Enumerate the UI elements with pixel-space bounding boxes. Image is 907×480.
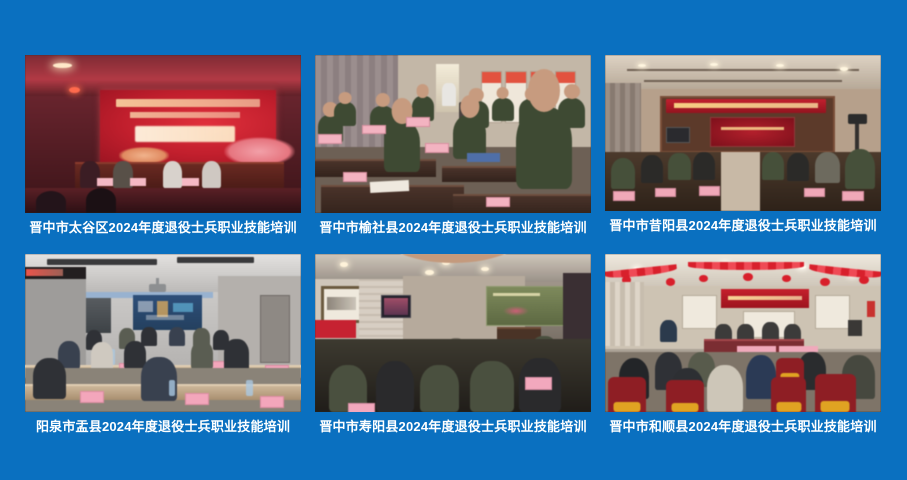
photo-taigu[interactable] <box>25 55 301 213</box>
caption-taigu: 晋中市太谷区2024年度退役士兵职业技能培训 <box>29 220 296 236</box>
photo-xiyang[interactable] <box>605 55 881 211</box>
caption-yuxian: 阳泉市盂县2024年度退役士兵职业技能培训 <box>36 419 290 435</box>
gallery-item-shouyang[interactable]: 晋中市寿阳县2024年度退役士兵职业技能培训 <box>315 254 591 435</box>
caption-shouyang: 晋中市寿阳县2024年度退役士兵职业技能培训 <box>319 419 586 435</box>
gallery-item-taigu[interactable]: 晋中市太谷区2024年度退役士兵职业技能培训 <box>25 55 301 236</box>
caption-heshun: 晋中市和顺县2024年度退役士兵职业技能培训 <box>609 419 876 435</box>
gallery-item-yushe[interactable]: 晋中市榆社县2024年度退役士兵职业技能培训 <box>315 55 591 236</box>
photo-yuxian[interactable] <box>25 254 301 412</box>
gallery-item-yuxian[interactable]: 阳泉市盂县2024年度退役士兵职业技能培训 <box>25 254 301 435</box>
gallery-item-xiyang[interactable]: 晋中市昔阳县2024年度退役士兵职业技能培训 <box>605 55 881 236</box>
photo-shouyang[interactable] <box>315 254 591 412</box>
photo-yushe[interactable] <box>315 55 591 213</box>
photo-heshun[interactable] <box>605 254 881 412</box>
gallery-item-heshun[interactable]: 晋中市和顺县2024年度退役士兵职业技能培训 <box>605 254 881 435</box>
caption-yushe: 晋中市榆社县2024年度退役士兵职业技能培训 <box>319 220 586 236</box>
caption-xiyang: 晋中市昔阳县2024年度退役士兵职业技能培训 <box>609 218 876 234</box>
photo-gallery: 晋中市太谷区2024年度退役士兵职业技能培训 <box>25 55 881 435</box>
